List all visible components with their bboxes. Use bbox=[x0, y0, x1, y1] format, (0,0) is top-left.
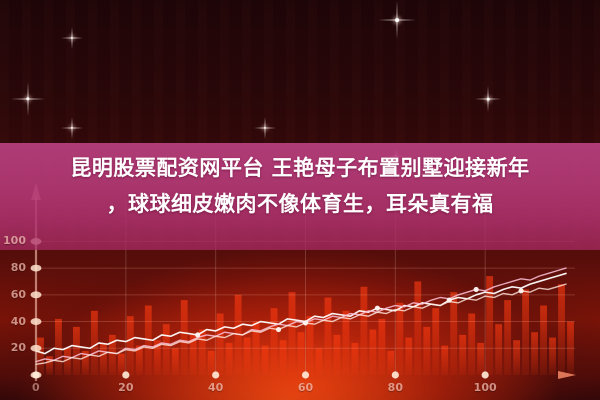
y-axis-tick-label: 40 bbox=[0, 315, 26, 328]
page-title: 昆明股票配资网平台 王艳母子布置别墅迎接新年 ，球球细皮嫩肉不像体育生，耳朵真有… bbox=[0, 150, 600, 222]
bar bbox=[495, 324, 502, 375]
bar bbox=[477, 343, 484, 375]
series-marker bbox=[195, 332, 200, 337]
y-axis-tick-dot[interactable] bbox=[31, 318, 42, 325]
bar bbox=[172, 348, 179, 375]
bar bbox=[343, 311, 350, 375]
x-axis-tick-dot[interactable] bbox=[392, 371, 399, 378]
bar bbox=[378, 319, 385, 375]
bar bbox=[549, 338, 556, 375]
bar bbox=[486, 276, 493, 375]
series-marker bbox=[375, 306, 380, 311]
bar bbox=[423, 327, 430, 375]
bar bbox=[217, 314, 224, 375]
bar bbox=[280, 340, 287, 375]
y-axis-tick-label: 60 bbox=[0, 288, 26, 301]
x-axis-tick-label: 40 bbox=[202, 381, 230, 394]
bar bbox=[414, 281, 421, 375]
x-axis-tick-dot[interactable] bbox=[32, 371, 39, 378]
bar bbox=[244, 338, 251, 375]
bar bbox=[360, 287, 367, 375]
x-axis-tick-label: 60 bbox=[292, 381, 320, 394]
bar bbox=[540, 306, 547, 375]
y-axis-tick-label: 100 bbox=[0, 234, 26, 247]
series-marker bbox=[474, 287, 479, 292]
bar bbox=[531, 332, 538, 375]
x-axis-tick-label: 100 bbox=[471, 381, 499, 394]
y-axis-tick-dot[interactable] bbox=[31, 345, 42, 352]
y-axis-tick-dot[interactable] bbox=[31, 291, 42, 298]
series-marker bbox=[303, 320, 308, 325]
bar bbox=[316, 348, 323, 375]
bar bbox=[504, 300, 511, 375]
poster-stage: 昆明股票配资网平台 王艳母子布置别墅迎接新年 ，球球细皮嫩肉不像体育生，耳朵真有… bbox=[0, 0, 600, 400]
y-axis-tick-dot[interactable] bbox=[31, 265, 42, 272]
x-axis-tick-label: 80 bbox=[381, 381, 409, 394]
x-axis-tick-dot[interactable] bbox=[212, 371, 219, 378]
y-axis-tick-label: 80 bbox=[0, 261, 26, 274]
series-marker bbox=[276, 327, 281, 332]
bar bbox=[262, 346, 269, 375]
headline-line-1: 昆明股票配资网平台 王艳母子布置别墅迎接新年 bbox=[0, 150, 600, 186]
bar bbox=[208, 351, 215, 375]
bar bbox=[450, 292, 457, 375]
bar bbox=[513, 340, 520, 375]
bar bbox=[271, 308, 278, 375]
bar bbox=[522, 289, 529, 375]
bar bbox=[396, 303, 403, 375]
bar bbox=[558, 284, 565, 375]
bar bbox=[73, 327, 80, 375]
bar bbox=[181, 300, 188, 375]
x-axis-tick-label: 20 bbox=[112, 381, 140, 394]
bar bbox=[100, 343, 107, 375]
bar bbox=[127, 316, 134, 375]
bar bbox=[351, 343, 358, 375]
bar bbox=[55, 319, 62, 375]
bar bbox=[432, 308, 439, 375]
headline-line-2: ，球球细皮嫩肉不像体育生，耳朵真有福 bbox=[0, 186, 600, 222]
bar bbox=[298, 332, 305, 375]
bar bbox=[163, 324, 170, 375]
bar bbox=[459, 335, 466, 375]
bar bbox=[118, 354, 125, 375]
y-axis-tick-label: 20 bbox=[0, 341, 26, 354]
bar bbox=[334, 335, 341, 375]
bar bbox=[289, 292, 296, 375]
series-marker bbox=[519, 288, 524, 293]
series-marker bbox=[447, 298, 452, 303]
bar bbox=[226, 343, 233, 375]
bar bbox=[307, 316, 314, 375]
bar bbox=[468, 314, 475, 375]
bar bbox=[387, 351, 394, 375]
x-axis-tick-dot[interactable] bbox=[482, 371, 489, 378]
x-axis-tick-dot[interactable] bbox=[122, 371, 129, 378]
bar bbox=[91, 311, 98, 375]
origin-tick-label: 0 bbox=[32, 381, 40, 394]
bar bbox=[37, 338, 44, 375]
x-axis-tick-dot[interactable] bbox=[302, 371, 309, 378]
bar bbox=[369, 330, 376, 375]
bar bbox=[405, 338, 412, 375]
bar bbox=[64, 348, 71, 375]
bar bbox=[441, 346, 448, 375]
bar bbox=[325, 297, 332, 375]
